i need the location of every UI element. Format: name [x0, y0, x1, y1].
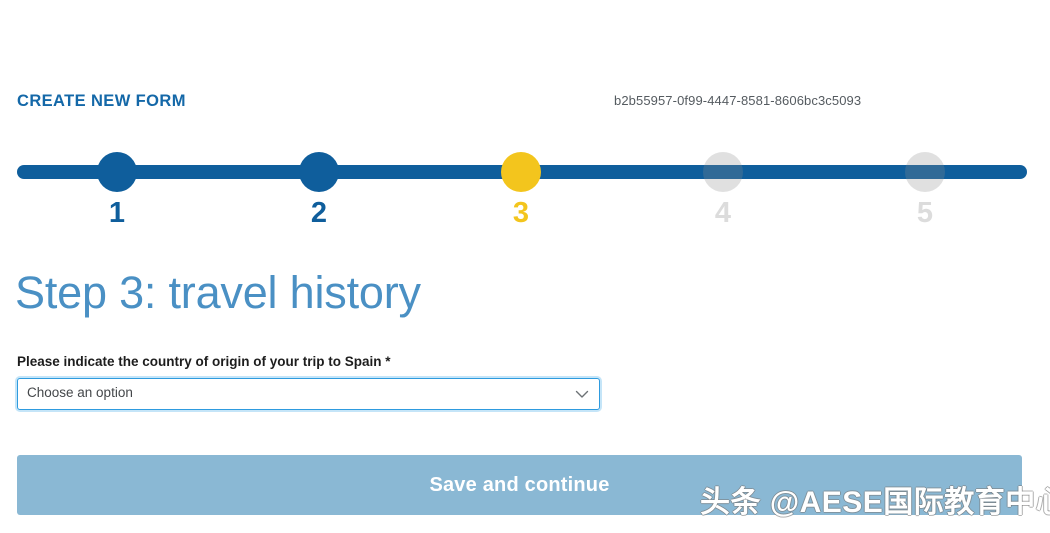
step-label-3: 3 — [461, 196, 581, 230]
step-label-2: 2 — [259, 196, 379, 230]
step-dot-1 — [97, 152, 137, 192]
form-id-text: b2b55957-0f99-4447-8581-8606bc3c5093 — [614, 90, 861, 112]
step-dot-5 — [905, 152, 945, 192]
step-node-1[interactable]: 1 — [97, 152, 137, 192]
step-dot-3 — [501, 152, 541, 192]
save-and-continue-button[interactable]: Save and continue — [17, 455, 1022, 515]
step-node-4[interactable]: 4 — [703, 152, 743, 192]
select-selected-value: Choose an option — [27, 378, 133, 408]
step-progress-bar: 1 2 3 4 5 — [17, 152, 1027, 242]
step-node-3[interactable]: 3 — [501, 152, 541, 192]
country-of-origin-label: Please indicate the country of origin of… — [17, 352, 391, 371]
step-dot-2 — [299, 152, 339, 192]
step-label-1: 1 — [57, 196, 177, 230]
step-label-5: 5 — [865, 196, 985, 230]
step-node-5[interactable]: 5 — [905, 152, 945, 192]
create-form-page: CREATE NEW FORM b2b55957-0f99-4447-8581-… — [0, 0, 1050, 533]
step-dot-4 — [703, 152, 743, 192]
country-of-origin-select[interactable]: Choose an option — [17, 378, 600, 410]
page-title: CREATE NEW FORM — [17, 88, 186, 114]
step-node-2[interactable]: 2 — [299, 152, 339, 192]
chevron-down-icon — [574, 386, 590, 402]
page-header: CREATE NEW FORM b2b55957-0f99-4447-8581-… — [17, 88, 1027, 114]
step-heading: Step 3: travel history — [15, 264, 421, 322]
step-label-4: 4 — [663, 196, 783, 230]
